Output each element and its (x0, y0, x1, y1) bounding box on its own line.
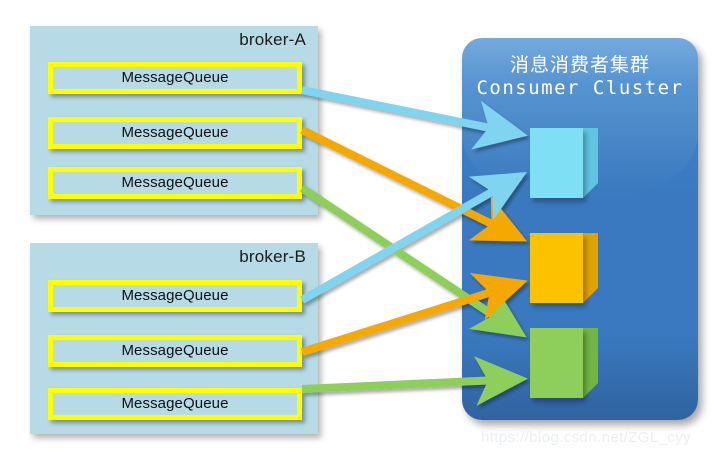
edge-broker-b-1-to-consumer-cyan (302, 176, 520, 300)
diagram-canvas: broker-A MessageQueue MessageQueue Messa… (0, 0, 720, 458)
consumer-cube-green[interactable] (530, 328, 583, 398)
edge-broker-a-2-to-consumer-orange (302, 130, 520, 238)
cluster-title: 消息消费者集群 Consumer Cluster (462, 54, 698, 100)
edge-broker-b-3-to-consumer-green (302, 379, 520, 389)
cluster-title-en: Consumer Cluster (462, 77, 698, 100)
consumer-cube-cyan[interactable] (530, 128, 583, 198)
cluster-title-cn: 消息消费者集群 (462, 54, 698, 77)
edge-broker-b-2-to-consumer-orange (302, 283, 520, 352)
cube-front-face (530, 328, 583, 398)
consumer-cube-orange[interactable] (530, 233, 583, 303)
cube-front-face (530, 128, 583, 198)
cube-front-face (530, 233, 583, 303)
edge-broker-a-3-to-consumer-green (302, 188, 520, 333)
